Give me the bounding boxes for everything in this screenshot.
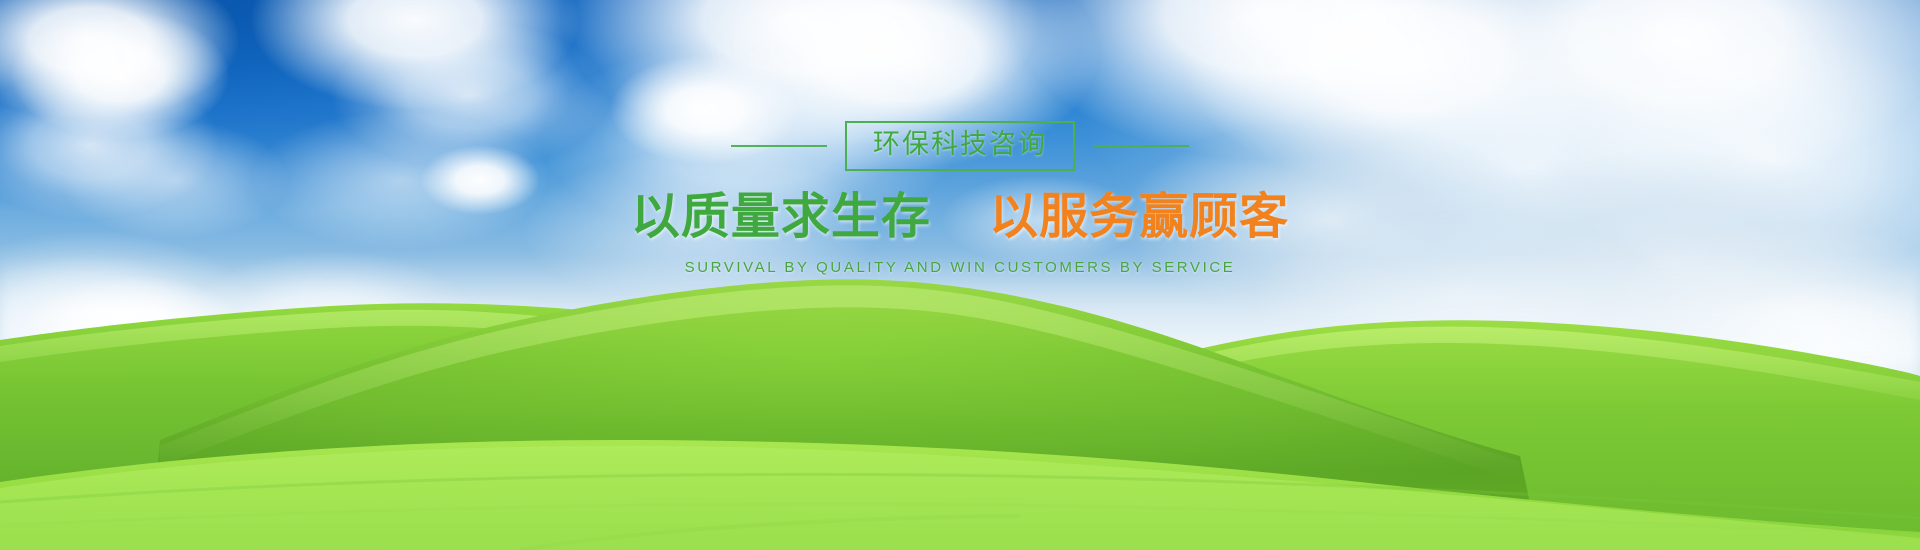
boxed-title-text: 环保科技咨询 (873, 131, 1047, 158)
right-rule-decoration (1093, 145, 1189, 147)
left-rule-decoration (731, 145, 827, 147)
headline-orange-text: 以服务赢顾客 (989, 188, 1289, 245)
subheadline: SURVIVAL BY QUALITY AND WIN CUSTOMERS BY… (0, 259, 1920, 276)
hero-banner: 环保科技咨询 以质量求生存 以服务赢顾客 SURVIVAL BY QUALITY… (0, 0, 1920, 550)
headline-green-text: 以质量求生存 (631, 188, 931, 245)
eyebrow-row: 环保科技咨询 (0, 118, 1920, 174)
headline: 以质量求生存 以服务赢顾客 (0, 190, 1920, 245)
grass-hills (0, 250, 1920, 550)
boxed-title: 环保科技咨询 (845, 121, 1075, 171)
banner-copy: 环保科技咨询 以质量求生存 以服务赢顾客 SURVIVAL BY QUALITY… (0, 118, 1920, 276)
